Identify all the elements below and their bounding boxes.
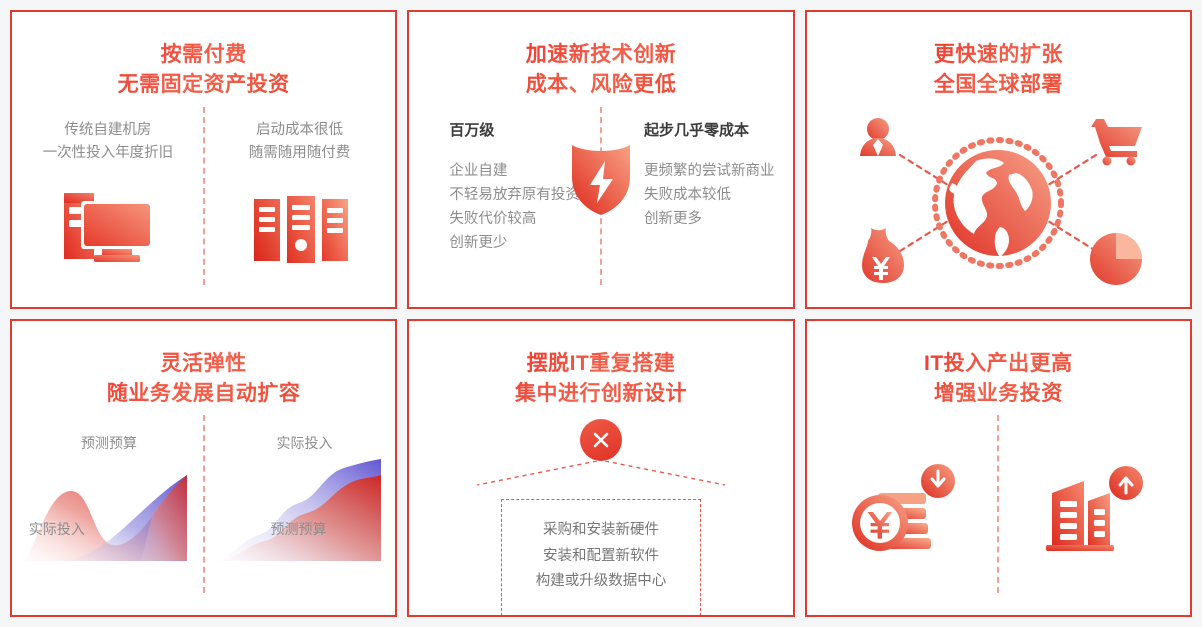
traditional-cost-curve-chart [23,433,193,583]
chart-label-top: 实际投入 [277,433,333,453]
shield-bolt-icon [567,135,635,222]
office-building-icon [1038,461,1150,566]
card-body [807,101,1190,307]
column-left-heading: 百万级 [449,119,494,140]
column-left [807,435,999,615]
card-accelerate-innovation: 加速新技术创新 成本、风险更低 百万级 企业自建 不轻易放弃原有投资 失败代价较… [407,10,794,309]
column-right [998,435,1190,615]
column-right: 实际投入 预测预算 [204,419,396,615]
money-bag-yuan-icon [862,228,904,283]
card-pay-as-you-go: 按需付费 无需固定资产投资 传统自建机房 一次性投入年度折旧 [10,10,397,309]
it-tasks-box: 采购和安装新硬件 安装和配置新软件 构建或升级数据中心 [501,499,702,615]
globe-network-diagram [848,109,1148,299]
chart-label-bottom: 实际投入 [29,519,85,539]
column-left: 传统自建机房 一次性投入年度折旧 [12,119,204,307]
column-right-text: 启动成本很低 随需随用随付费 [249,119,351,165]
shopping-cart-icon [1091,119,1142,166]
feature-card-grid: 按需付费 无需固定资产投资 传统自建机房 一次性投入年度折旧 [0,0,1202,627]
card-body: 预测预算 实际投入 [12,409,395,615]
card-higher-it-roi: IT投入产出更高 增强业务投资 [805,319,1192,618]
server-rack-icon [252,187,348,270]
chart-label-top: 预测预算 [81,433,137,453]
pie-chart-icon [1090,233,1142,285]
coins-yuan-icon [846,461,958,566]
card-title: 灵活弹性 随业务发展自动扩容 [107,349,301,410]
column-right: 启动成本很低 随需随用随付费 [204,119,396,307]
card-title: 加速新技术创新 成本、风险更低 [526,40,677,101]
card-title: IT投入产出更高 增强业务投资 [924,349,1073,410]
cloud-cost-curve-chart [215,433,385,583]
businessman-icon [860,118,896,156]
card-flexible-elasticity: 灵活弹性 随业务发展自动扩容 预测预算 实际投入 [10,319,397,618]
arrow-up-circle-icon [1109,466,1143,500]
card-body [807,409,1190,615]
card-body: 传统自建机房 一次性投入年度折旧 [12,101,395,307]
desktop-computer-icon [60,187,156,270]
arrow-down-circle-icon [921,464,955,498]
card-title: 按需付费 无需固定资产投资 [118,40,290,101]
card-title: 摆脱IT重复搭建 集中进行创新设计 [515,349,687,410]
column-left-text: 传统自建机房 一次性投入年度折旧 [43,119,174,165]
card-faster-expansion: 更快速的扩张 全国全球部署 [805,10,1192,309]
card-body: 采购和安装新硬件 安装和配置新软件 构建或升级数据中心 [409,409,792,615]
column-left-text: 企业自建 不轻易放弃原有投资 失败代价较高 创新更少 [449,160,580,256]
column-right-text: 更频繁的尝试新商业 失败成本较低 创新更多 [644,160,775,232]
card-no-repeat-it-build: 摆脱IT重复搭建 集中进行创新设计 采购和安装新硬件 安装和配置新软件 构建或升… [407,319,794,618]
chart-label-bottom: 预测预算 [271,519,327,539]
connector-lines [471,461,731,487]
card-title: 更快速的扩张 全国全球部署 [934,40,1063,101]
card-body: 百万级 企业自建 不轻易放弃原有投资 失败代价较高 创新更少 起步几乎零成本 更… [409,101,792,307]
x-circle-icon [580,419,622,461]
column-left: 预测预算 实际投入 [12,419,204,615]
column-right-heading: 起步几乎零成本 [644,119,749,140]
